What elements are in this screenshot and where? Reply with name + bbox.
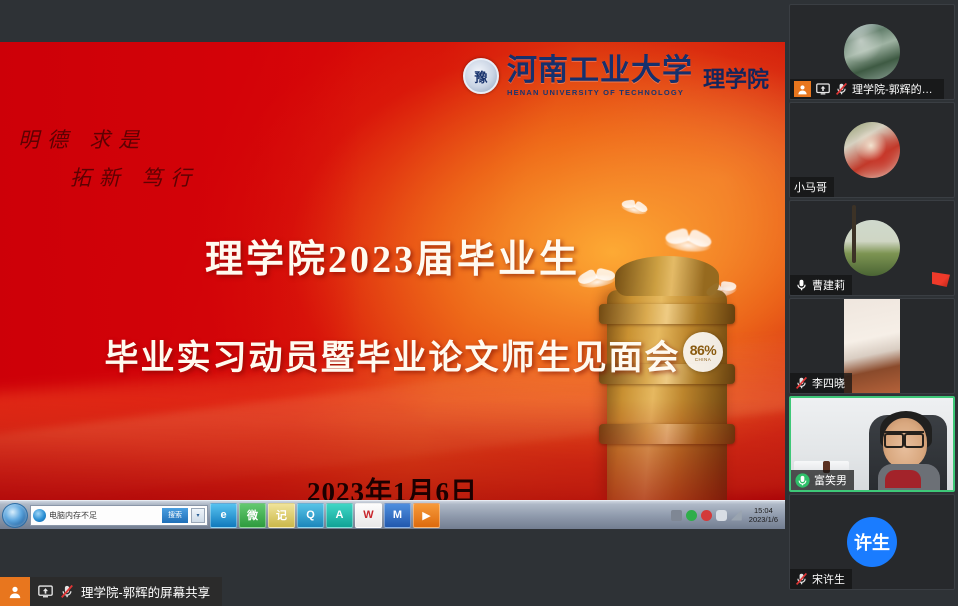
participant-name: 曹建莉 [812, 277, 845, 293]
tray-shield-icon[interactable] [686, 510, 697, 521]
wps-icon[interactable]: W [355, 503, 382, 528]
mic-muted-icon [794, 376, 808, 391]
edge-icon[interactable]: e [210, 503, 237, 528]
screen-share-icon [38, 585, 53, 599]
avatar-initials: 许生 [847, 517, 897, 567]
windows-start-icon[interactable] [2, 503, 28, 528]
wechat-icon[interactable]: 微 [239, 503, 266, 528]
university-name-en: HENAN UNIVERSITY OF TECHNOLOGY [507, 88, 693, 97]
slide-subtitle: 毕业实习动员暨毕业论文师生见面会 [0, 330, 785, 379]
avatar [844, 122, 900, 178]
slide-date: 2023年1月6日 [0, 470, 785, 500]
video-frame [844, 299, 900, 393]
glasses-decor [884, 431, 924, 442]
shared-screen-area[interactable]: 86% CHINA 豫 河南工业大学 HENAN UNIVERSITY OF T… [0, 0, 785, 606]
participant-filmstrip[interactable]: 理学院-郭辉的屏... 小马哥 [785, 0, 958, 606]
participant-tile-active-speaker[interactable]: 富笑男 [789, 396, 955, 492]
app-icon[interactable]: A [326, 503, 353, 528]
tile-name-bar: 宋许生 [790, 569, 852, 589]
flag-decor [932, 272, 950, 287]
mic-muted-icon [60, 584, 74, 599]
internet-explorer-icon [33, 509, 46, 522]
participant-name: 小马哥 [794, 179, 827, 195]
participant-tile-2[interactable]: 小马哥 [789, 102, 955, 198]
taskbar-clock[interactable]: 15:04 2023/1/6 [746, 506, 781, 525]
zoom-meeting-window: 86% CHINA 豫 河南工业大学 HENAN UNIVERSITY OF T… [0, 0, 958, 606]
presentation-slide: 86% CHINA 豫 河南工业大学 HENAN UNIVERSITY OF T… [0, 42, 785, 500]
windows-taskbar[interactable]: 电脑内存不足 搜索 ▾ e 微 记 Q A W M ▶ [0, 500, 785, 529]
tile-name-bar: 小马哥 [790, 177, 834, 197]
tile-name-bar: 李四晓 [790, 373, 852, 393]
clock-date: 2023/1/6 [749, 515, 778, 524]
tray-volume-icon[interactable] [716, 510, 727, 521]
motto-line-2: 拓新 笃行 [70, 162, 199, 192]
notes-icon[interactable]: 记 [268, 503, 295, 528]
tile-name-bar: 富笑男 [791, 470, 854, 490]
host-person-icon [0, 577, 30, 606]
mic-muted-icon [834, 82, 848, 97]
participant-tile-host[interactable]: 理学院-郭辉的屏... [789, 4, 955, 100]
tile-name-bar: 理学院-郭辉的屏... [790, 79, 944, 99]
slide-header: 豫 河南工业大学 HENAN UNIVERSITY OF TECHNOLOGY … [0, 42, 785, 110]
system-tray[interactable]: 15:04 2023/1/6 [671, 503, 783, 528]
participant-name: 宋许生 [812, 571, 845, 587]
chevron-down-icon[interactable]: ▾ [191, 508, 205, 523]
clock-time: 15:04 [749, 506, 778, 515]
dove-icon [620, 202, 648, 217]
avatar [844, 220, 900, 276]
screen-share-icon [815, 82, 830, 96]
participant-name: 理学院-郭辉的屏... [852, 81, 937, 97]
share-banner-body: 理学院-郭辉的屏幕共享 [30, 577, 222, 606]
share-bottom-gap [0, 529, 785, 577]
share-status-banner[interactable]: 理学院-郭辉的屏幕共享 [0, 577, 222, 606]
participant-name: 李四晓 [812, 375, 845, 391]
university-seal-icon: 豫 [463, 58, 499, 94]
share-banner-label: 理学院-郭辉的屏幕共享 [81, 582, 210, 601]
host-person-icon [794, 81, 811, 97]
pillar-band [599, 304, 735, 324]
mic-on-icon [794, 278, 808, 293]
university-motto: 明德 求是 拓新 笃行 [18, 124, 199, 192]
browser-icon[interactable]: M [384, 503, 411, 528]
participant-tile-6[interactable]: 许生 宋许生 [789, 494, 955, 590]
qq-icon[interactable]: Q [297, 503, 324, 528]
mic-on-icon [795, 473, 810, 488]
shared-desktop[interactable]: 86% CHINA 豫 河南工业大学 HENAN UNIVERSITY OF T… [0, 42, 785, 529]
university-name-zh: 河南工业大学 [507, 55, 693, 87]
participant-name: 富笑男 [814, 472, 847, 488]
scarf-decor [885, 470, 921, 488]
mic-muted-icon [794, 572, 808, 587]
search-input[interactable]: 电脑内存不足 [49, 510, 159, 521]
slide-title: 理学院2023届毕业生 [0, 228, 785, 283]
college-name: 理学院 [703, 62, 769, 97]
avatar [844, 24, 900, 80]
tile-name-bar: 曹建莉 [790, 275, 852, 295]
search-go-button[interactable]: 搜索 [162, 508, 188, 523]
taskbar-search-box[interactable]: 电脑内存不足 搜索 ▾ [30, 505, 208, 526]
motto-line-1: 明德 求是 [18, 124, 199, 154]
tray-network-icon[interactable] [731, 510, 742, 521]
player-icon[interactable]: ▶ [413, 503, 440, 528]
participant-tile-4[interactable]: 李四晓 [789, 298, 955, 394]
participant-tile-3[interactable]: 曹建莉 [789, 200, 955, 296]
tray-overflow-icon[interactable] [671, 510, 682, 521]
tray-security-icon[interactable] [701, 510, 712, 521]
university-logo: 豫 河南工业大学 HENAN UNIVERSITY OF TECHNOLOGY … [463, 55, 769, 97]
